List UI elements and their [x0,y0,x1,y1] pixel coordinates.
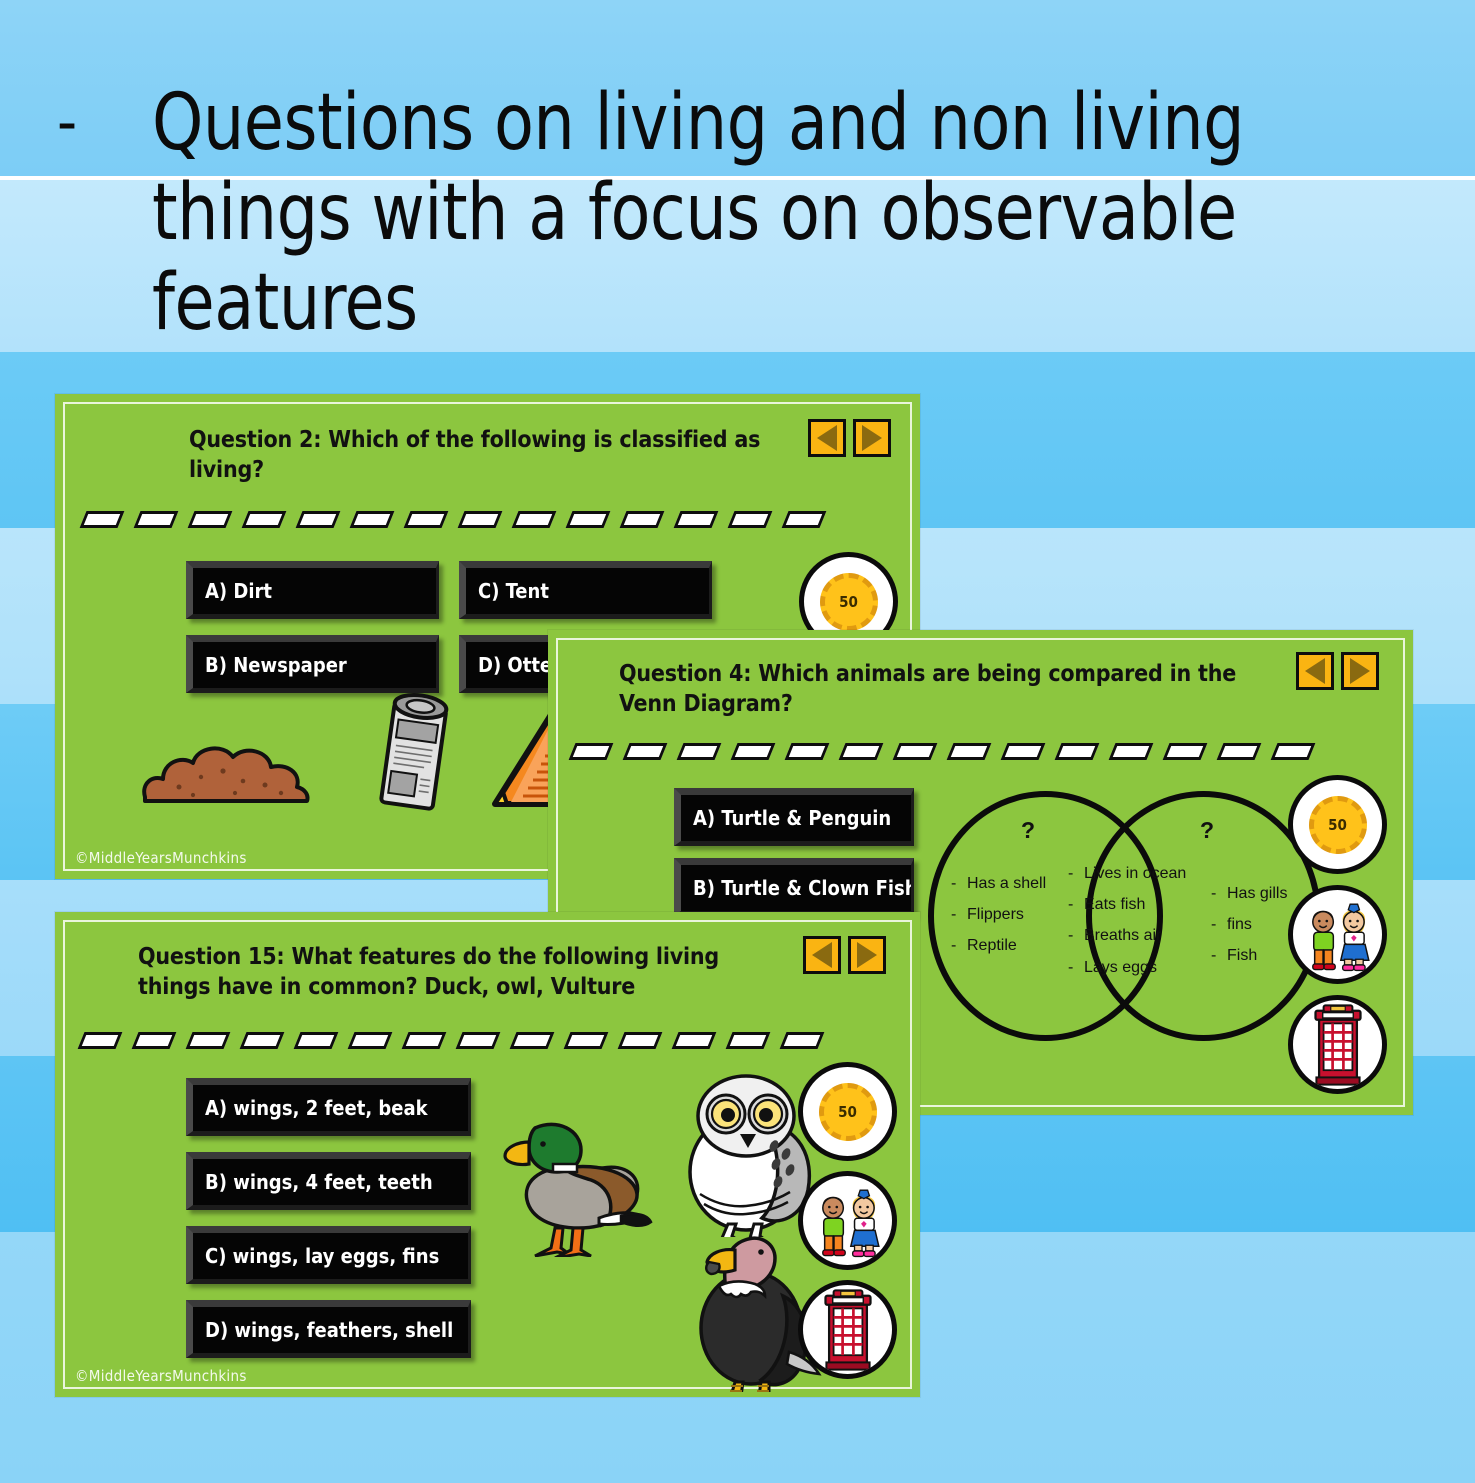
newspaper-roll-image [366,688,462,818]
venn-item: -Reptile [951,930,1046,961]
bullet-dash: - [1068,952,1084,983]
divider-dash [623,743,668,760]
bullet-dash: - [951,868,967,899]
prev-question-button[interactable] [803,936,841,974]
page-title: Questions on living and non living thing… [152,78,1310,348]
arrow-left-icon [1305,658,1325,684]
venn-item-text: Breaths air [1084,927,1161,944]
venn-item: -Breaths air [1068,920,1186,951]
divider-dash [674,511,719,528]
venn-item-text: Has gills [1227,885,1287,902]
divider-dash [348,1032,393,1049]
divider-dash [134,511,179,528]
two-kids-icon [806,1179,890,1263]
divider-dash [1217,743,1262,760]
divider-dash [566,511,611,528]
divider-dash [240,1032,285,1049]
coin-icon: 50 [1309,796,1367,854]
coin-icon: 50 [819,1083,877,1141]
bullet-dash: - [1068,889,1084,920]
venn-left-unknown-label: ? [1021,817,1035,844]
divider-dash [728,511,773,528]
nav-buttons[interactable] [808,419,891,457]
venn-item: -Lives in ocean [1068,858,1186,889]
answer-option-d[interactable]: D) wings, feathers, shell [186,1300,471,1358]
dashed-divider [81,1032,837,1049]
question-text: Question 4: Which animals are being comp… [619,660,1279,720]
arrow-right-icon [857,942,877,968]
divider-dash [78,1032,123,1049]
telephone-booth-icon [821,1288,875,1372]
divider-dash [1055,743,1100,760]
divider-dash [186,1032,231,1049]
prev-question-button[interactable] [1296,652,1334,690]
divider-dash [350,511,395,528]
coin-value: 50 [839,593,858,611]
dashed-divider [83,511,839,528]
coin-value: 50 [1328,816,1347,834]
divider-dash [782,511,827,528]
divider-dash [726,1032,771,1049]
venn-item-text: Fish [1227,947,1257,964]
divider-dash [402,1032,447,1049]
bullet-dash: - [1211,940,1227,971]
page-title-block: - Questions on living and non living thi… [57,78,1397,348]
venn-right-unknown-label: ? [1200,817,1214,844]
venn-item-text: Flippers [967,906,1024,923]
divider-dash [294,1032,339,1049]
answer-option-c[interactable]: C) wings, lay eggs, fins [186,1226,471,1284]
answer-option-b[interactable]: B) wings, 4 feet, teeth [186,1152,471,1210]
divider-dash [620,511,665,528]
divider-dash [569,743,614,760]
divider-dash [1271,743,1316,760]
answer-option-b[interactable]: B) Turtle & Clown Fish [674,858,914,916]
divider-dash [132,1032,177,1049]
next-question-button[interactable] [848,936,886,974]
two-kids-icon [1296,893,1380,977]
venn-item-text: Eats fish [1084,896,1145,913]
venn-item: -fins [1211,909,1287,940]
dirt-pile-image [139,731,314,803]
lifeline-ask-the-audience[interactable] [1288,885,1387,984]
venn-item: -Eats fish [1068,889,1186,920]
card-question-15[interactable]: Question 15: What features do the follow… [55,912,920,1397]
divider-dash [677,743,722,760]
venn-item-text: Has a shell [967,875,1046,892]
arrow-left-icon [817,425,837,451]
divider-dash [458,511,503,528]
answer-option-a[interactable]: A) wings, 2 feet, beak [186,1078,471,1136]
lifeline-phone-a-friend[interactable] [798,1280,897,1379]
coin-icon: 50 [820,573,878,631]
divider-dash [296,511,341,528]
answer-option-c[interactable]: C) Tent [459,561,712,619]
lifeline-fifty-fifty[interactable]: 50 [1288,775,1387,874]
bullet-dash: - [1211,878,1227,909]
divider-dash [947,743,992,760]
next-question-button[interactable] [853,419,891,457]
telephone-booth-icon [1311,1003,1365,1087]
question-text: Question 2: Which of the following is cl… [189,426,789,486]
venn-item-text: fins [1227,916,1252,933]
venn-item-text: Reptile [967,937,1017,954]
venn-item-text: Lays eggs [1084,959,1157,976]
venn-left-items: -Has a shell -Flippers -Reptile [951,868,1046,962]
dashed-divider [572,743,1328,760]
question-text: Question 15: What features do the follow… [138,943,798,1003]
watermark: ©MiddleYearsMunchkins [75,849,247,867]
divider-dash [785,743,830,760]
divider-dash [188,511,233,528]
answer-option-a[interactable]: A) Dirt [186,561,439,619]
arrow-left-icon [812,942,832,968]
divider-dash [1109,743,1154,760]
prev-question-button[interactable] [808,419,846,457]
divider-dash [839,743,884,760]
divider-dash [731,743,776,760]
bullet-dash: - [1068,920,1084,951]
bullet-dash: - [951,930,967,961]
divider-dash [893,743,938,760]
bullet-dash: - [1068,858,1084,889]
divider-dash [564,1032,609,1049]
venn-item: -Fish [1211,940,1287,971]
divider-dash [512,511,557,528]
venn-diagram: ? ? -Has a shell -Flippers -Reptile -Liv… [928,785,1328,1055]
duck-image [495,1102,655,1257]
divider-dash [80,511,125,528]
answer-option-b[interactable]: B) Newspaper [186,635,439,693]
divider-dash [618,1032,663,1049]
divider-dash [404,511,449,528]
answer-option-a[interactable]: A) Turtle & Penguin [674,788,914,846]
venn-item: -Has a shell [951,868,1046,899]
lifeline-phone-a-friend[interactable] [1288,995,1387,1094]
nav-buttons[interactable] [803,936,886,974]
next-question-button[interactable] [1341,652,1379,690]
divider-dash [456,1032,501,1049]
venn-right-items: -Has gills -fins -Fish [1211,878,1287,972]
venn-item: -Lays eggs [1068,952,1186,983]
venn-item: -Flippers [951,899,1046,930]
bullet-dash: - [951,899,967,930]
arrow-right-icon [862,425,882,451]
divider-dash [1001,743,1046,760]
divider-dash [510,1032,555,1049]
divider-dash [780,1032,825,1049]
watermark: ©MiddleYearsMunchkins [75,1367,247,1385]
coin-value: 50 [838,1103,857,1121]
venn-item: -Has gills [1211,878,1287,909]
venn-item-text: Lives in ocean [1084,865,1186,882]
bullet-dash: - [1211,909,1227,940]
divider-dash [672,1032,717,1049]
lifeline-fifty-fifty[interactable]: 50 [798,1062,897,1161]
venn-center-items: -Lives in ocean -Eats fish -Breaths air … [1068,858,1186,983]
divider-dash [242,511,287,528]
lifeline-ask-the-audience[interactable] [798,1171,897,1270]
arrow-right-icon [1350,658,1370,684]
nav-buttons[interactable] [1296,652,1379,690]
title-bullet-dash: - [57,78,152,166]
divider-dash [1163,743,1208,760]
